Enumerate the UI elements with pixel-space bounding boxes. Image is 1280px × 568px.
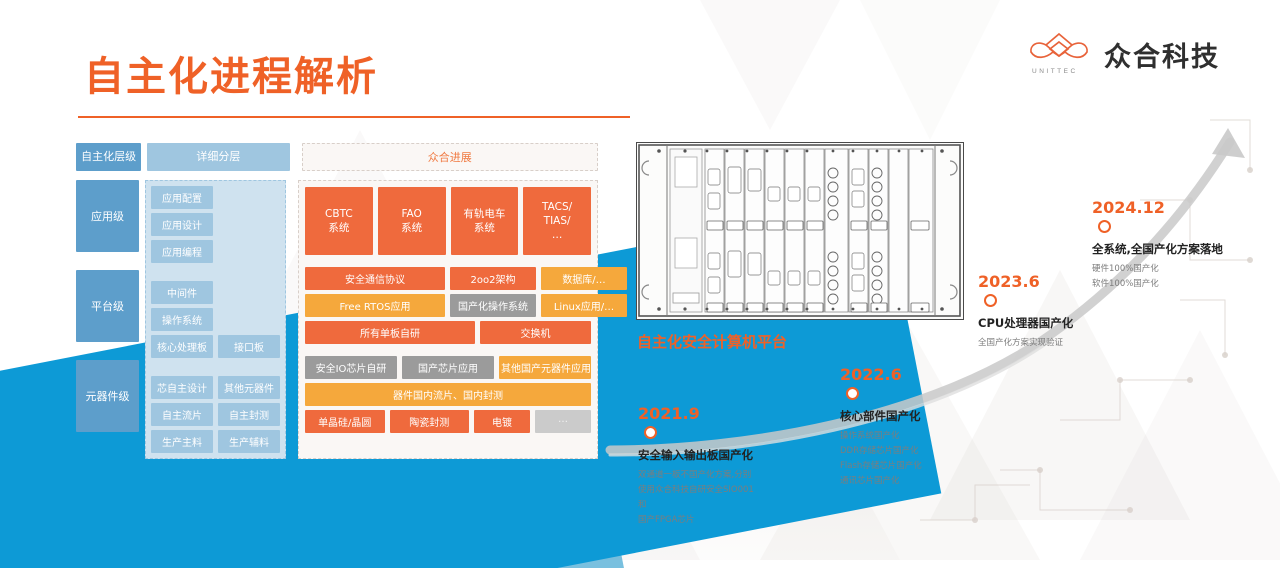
slide-canvas: 自主化进程解析 UNITTEC 众合科技 自主化层级 详细分层 众合进展 xyxy=(0,0,1280,568)
detail-group-platform: 中间件 操作系统 核心处理板 接口板 xyxy=(151,281,280,358)
milestone-headline: 全系统,全国产化方案落地 xyxy=(1092,241,1223,257)
milestone-headline: CPU处理器国产化 xyxy=(978,315,1073,331)
system-box-fao: FAO 系统 xyxy=(378,187,446,255)
progress-chip-safe-io: 安全IO芯片自研 xyxy=(305,356,397,379)
level-cell-component: 元器件级 xyxy=(76,360,139,432)
milestone-detail-line: DDR存储芯片国产化 xyxy=(840,444,922,459)
header-progress: 众合进展 xyxy=(302,143,598,171)
detail-chip: 应用设计 xyxy=(151,213,213,236)
detail-row: 应用配置 xyxy=(151,186,280,209)
logo-latin-text: UNITTEC xyxy=(1032,68,1078,75)
detail-chip-spacer xyxy=(218,281,280,304)
progress-row: 安全通信协议 2oo2架构 数据库/… xyxy=(305,267,591,290)
detail-chip: 应用配置 xyxy=(151,186,213,209)
detail-row: 中间件 xyxy=(151,281,280,304)
milestone-2021-9: 2021.9 安全输入输出板国产化 双通道一板不国产化方案,分别 使用众合科技自… xyxy=(638,404,760,528)
milestone-detail-line: 操作系统国产化 xyxy=(840,429,922,444)
system-line: 系统 xyxy=(328,221,349,235)
logo-glyph-svg xyxy=(1028,30,1090,68)
progress-chip-switch: 交换机 xyxy=(480,321,591,344)
milestone-dot-icon xyxy=(1098,220,1111,233)
detail-row: 自主流片 自主封测 xyxy=(151,403,280,426)
detail-row: 应用编程 xyxy=(151,240,280,263)
detail-row: 芯自主设计 其他元器件 xyxy=(151,376,280,399)
milestone-detail-line: 全国产化方案实现验证 xyxy=(978,336,1073,351)
progress-row: Free RTOS应用 国产化操作系统 Linux应用/… xyxy=(305,294,591,317)
header-level: 自主化层级 xyxy=(76,143,141,171)
detail-chip-spacer xyxy=(218,240,280,263)
progress-chip-2oo2: 2oo2架构 xyxy=(450,267,536,290)
milestone-year: 2023.6 xyxy=(978,272,1073,291)
system-line: TACS/ xyxy=(542,200,572,214)
progress-chip-domestic-fab: 器件国内流片、国内封测 xyxy=(305,383,591,406)
detail-row: 应用设计 xyxy=(151,213,280,236)
progress-group-systems: CBTC 系统 FAO 系统 有轨电车 系统 TACS/ xyxy=(305,187,591,255)
title-underline xyxy=(78,116,630,118)
detail-row: 核心处理板 接口板 xyxy=(151,335,280,358)
progress-chip-all-boards: 所有单板自研 xyxy=(305,321,475,344)
milestone-detail-line: Flash存储芯片国产化 xyxy=(840,459,922,474)
level-column: 应用级 平台级 元器件级 xyxy=(76,180,139,459)
system-line: TIAS/ xyxy=(544,214,571,228)
level-cell-application: 应用级 xyxy=(76,180,139,252)
progress-chip-safe-protocol: 安全通信协议 xyxy=(305,267,445,290)
brand-logo: UNITTEC 众合科技 xyxy=(1028,30,1220,78)
system-box-tacs: TACS/ TIAS/ … xyxy=(523,187,591,255)
page-title: 自主化进程解析 xyxy=(84,44,378,102)
milestone-year: 2024.12 xyxy=(1092,198,1223,217)
matrix-header-row: 自主化层级 详细分层 众合进展 xyxy=(76,143,598,171)
milestone-details: 双通道一板不国产化方案,分别 使用众合科技自研安全SIO001和 国产FPGA芯… xyxy=(638,468,760,528)
detail-chip: 操作系统 xyxy=(151,308,213,331)
detail-chip: 生产主料 xyxy=(151,430,213,453)
milestone-2024-12: 2024.12 全系统,全国产化方案落地 硬件100%国产化 软件100%国产化 xyxy=(1092,198,1223,292)
milestone-timeline: 2021.9 安全输入输出板国产化 双通道一板不国产化方案,分别 使用众合科技自… xyxy=(600,120,1280,560)
milestone-detail-line: 双通道一板不国产化方案,分别 xyxy=(638,468,760,483)
capability-matrix: 自主化层级 详细分层 众合进展 应用级 平台级 元器件级 应用配置 应用设计 xyxy=(76,143,598,459)
system-line: CBTC xyxy=(325,207,353,221)
milestone-detail-line: 国产FPGA芯片 xyxy=(638,513,760,528)
milestone-detail-line: 通讯芯片国产化 xyxy=(840,474,922,489)
detail-chip: 自主流片 xyxy=(151,403,213,426)
progress-row: 单晶硅/晶圆 陶瓷封测 电镀 … xyxy=(305,410,591,433)
detail-group-application: 应用配置 应用设计 应用编程 xyxy=(151,186,280,263)
progress-column: CBTC 系统 FAO 系统 有轨电车 系统 TACS/ xyxy=(298,180,598,459)
milestone-headline: 核心部件国产化 xyxy=(840,408,922,424)
milestone-year: 2022.6 xyxy=(840,365,922,384)
progress-chip-more: … xyxy=(535,410,591,433)
system-box-cbtc: CBTC 系统 xyxy=(305,187,373,255)
milestone-dot-icon xyxy=(984,294,997,307)
progress-chip-plating: 电镀 xyxy=(474,410,530,433)
progress-group-platform: 安全通信协议 2oo2架构 数据库/… Free RTOS应用 国产化操作系统 … xyxy=(305,267,591,344)
detail-chip: 自主封测 xyxy=(218,403,280,426)
logo-brand-text: 众合科技 xyxy=(1104,35,1220,74)
progress-chip-domestic-os: 国产化操作系统 xyxy=(450,294,536,317)
progress-chip-other-components: 其他国产元器件应用 xyxy=(499,356,591,379)
detail-chip: 应用编程 xyxy=(151,240,213,263)
level-cell-platform: 平台级 xyxy=(76,270,139,342)
matrix-body: 应用级 平台级 元器件级 应用配置 应用设计 应用编程 xyxy=(76,180,598,459)
system-line: FAO xyxy=(401,207,421,221)
milestone-details: 硬件100%国产化 软件100%国产化 xyxy=(1092,262,1223,292)
system-box-tram: 有轨电车 系统 xyxy=(451,187,519,255)
progress-chip-freertos: Free RTOS应用 xyxy=(305,294,445,317)
milestone-2022-6: 2022.6 核心部件国产化 操作系统国产化 DDR存储芯片国产化 Flash存… xyxy=(840,365,922,489)
system-line: … xyxy=(552,228,563,242)
detail-chip: 接口板 xyxy=(218,335,280,358)
header-detail: 详细分层 xyxy=(147,143,289,171)
system-line: 系统 xyxy=(401,221,422,235)
milestone-dot-icon xyxy=(644,426,657,439)
milestone-2023-6: 2023.6 CPU处理器国产化 全国产化方案实现验证 xyxy=(978,272,1073,351)
detail-chip-spacer xyxy=(218,213,280,236)
detail-column: 应用配置 应用设计 应用编程 中间件 xyxy=(145,180,286,459)
milestone-detail-line: 软件100%国产化 xyxy=(1092,277,1223,292)
detail-chip: 生产辅料 xyxy=(218,430,280,453)
progress-row: 器件国内流片、国内封测 xyxy=(305,383,591,406)
milestone-detail-line: 硬件100%国产化 xyxy=(1092,262,1223,277)
detail-row: 操作系统 xyxy=(151,308,280,331)
system-row: CBTC 系统 FAO 系统 有轨电车 系统 TACS/ xyxy=(305,187,591,255)
detail-row: 生产主料 生产辅料 xyxy=(151,430,280,453)
system-line: 有轨电车 xyxy=(463,207,505,221)
milestone-details: 全国产化方案实现验证 xyxy=(978,336,1073,351)
progress-chip-ceramic-package: 陶瓷封测 xyxy=(390,410,470,433)
detail-chip: 中间件 xyxy=(151,281,213,304)
logo-butterfly-icon: UNITTEC xyxy=(1028,30,1090,78)
detail-chip: 芯自主设计 xyxy=(151,376,213,399)
progress-row: 所有单板自研 交换机 xyxy=(305,321,591,344)
milestone-details: 操作系统国产化 DDR存储芯片国产化 Flash存储芯片国产化 通讯芯片国产化 xyxy=(840,429,922,489)
detail-chip: 核心处理板 xyxy=(151,335,213,358)
progress-row: 安全IO芯片自研 国产芯片应用 其他国产元器件应用 xyxy=(305,356,591,379)
progress-group-component: 安全IO芯片自研 国产芯片应用 其他国产元器件应用 器件国内流片、国内封测 单晶… xyxy=(305,356,591,433)
detail-chip: 其他元器件 xyxy=(218,376,280,399)
milestone-year: 2021.9 xyxy=(638,404,760,423)
milestone-detail-line: 使用众合科技自研安全SIO001和 xyxy=(638,483,760,513)
milestone-headline: 安全输入输出板国产化 xyxy=(638,447,760,463)
detail-chip-spacer xyxy=(218,186,280,209)
progress-chip-domestic-chip: 国产芯片应用 xyxy=(402,356,494,379)
system-line: 系统 xyxy=(474,221,495,235)
progress-chip-silicon-wafer: 单晶硅/晶圆 xyxy=(305,410,385,433)
detail-group-component: 芯自主设计 其他元器件 自主流片 自主封测 生产主料 生产辅料 xyxy=(151,376,280,453)
milestone-dot-icon xyxy=(846,387,859,400)
detail-chip-spacer xyxy=(218,308,280,331)
